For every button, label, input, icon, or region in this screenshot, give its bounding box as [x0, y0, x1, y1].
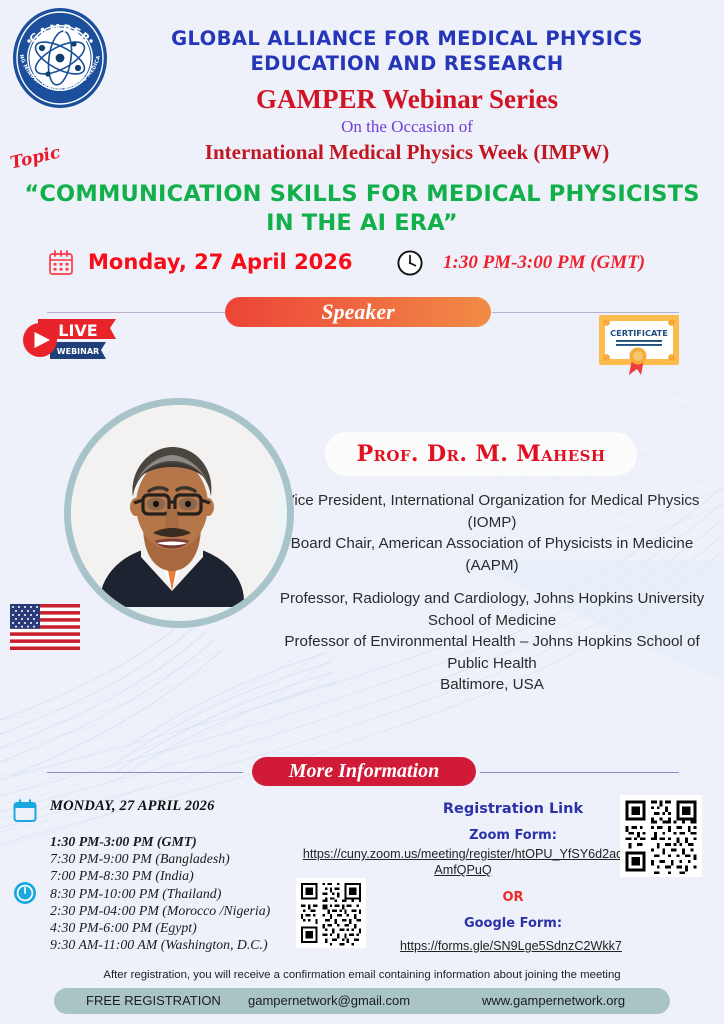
free-registration-label: FREE REGISTRATION: [86, 988, 221, 1014]
event-datetime-row: Monday, 27 April 2026 1:30 PM-3:00 PM (G…: [0, 246, 724, 282]
clock-icon: [396, 249, 424, 277]
gamper-logo: GAMPER CONNECTING MINDS, TRANSFORMING ME…: [8, 6, 112, 110]
organization-title: GLOBAL ALLIANCE FOR MEDICAL PHYSICS EDUC…: [104, 26, 710, 76]
timezone-item: 2:30 PM-04:00 PM (Morocco /Nigeria): [50, 902, 320, 919]
website-link[interactable]: www.gampernetwork.org: [482, 988, 625, 1014]
speaker-position-0: Professor, Radiology and Cardiology, Joh…: [270, 588, 714, 631]
speaker-bio: Vice President, International Organizati…: [270, 490, 714, 696]
event-date: Monday, 27 April 2026: [88, 246, 353, 279]
occasion-prefix: On the Occasion of: [104, 117, 710, 137]
zoom-form-label: Zoom Form:: [398, 828, 628, 843]
timezone-item: 7:00 PM-8:30 PM (India): [50, 867, 320, 884]
or-separator: OR: [398, 890, 628, 905]
footer-bar: FREE REGISTRATION gampernetwork@gmail.co…: [54, 988, 670, 1014]
timezone-item: 1:30 PM-3:00 PM (GMT): [50, 833, 320, 850]
timezone-list: 1:30 PM-3:00 PM (GMT) 7:30 PM-9:00 PM (B…: [50, 833, 320, 953]
speaker-name: Prof. Dr. M. Mahesh: [325, 432, 637, 476]
live-badge-secondary-text: WEBINAR: [57, 347, 99, 356]
speaker-position-1: Professor of Environmental Health – John…: [270, 631, 714, 674]
google-form-link[interactable]: https://forms.gle/SN9Lge5SdnzC2Wkk7: [380, 939, 642, 953]
event-time: 1:30 PM-3:00 PM (GMT): [443, 246, 645, 279]
timezone-item: 4:30 PM-6:00 PM (Egypt): [50, 919, 320, 936]
talk-title: “COMMUNICATION SKILLS FOR MEDICAL PHYSIC…: [18, 180, 706, 238]
more-information-label: More Information: [252, 757, 476, 786]
clock-icon: [12, 880, 38, 906]
speaker-photo: [64, 398, 294, 628]
speaker-section-label: Speaker: [225, 297, 491, 327]
speaker-divider-left: [47, 312, 232, 313]
timezone-item: 8:30 PM-10:00 PM (Thailand): [50, 885, 320, 902]
qr-code-icon[interactable]: [296, 878, 366, 948]
zoom-registration-link[interactable]: https://cuny.zoom.us/meeting/register/ht…: [300, 846, 626, 878]
calendar-icon: [47, 249, 75, 277]
more-info-divider-right: [480, 772, 679, 773]
certificate-label-text: CERTIFICATE: [610, 328, 668, 338]
more-info-divider-left: [47, 772, 243, 773]
certificate-icon: CERTIFICATE: [596, 312, 682, 378]
speaker-portrait-illustration: [71, 405, 273, 607]
timezone-item: 9:30 AM-11:00 AM (Washington, D.C.): [50, 936, 320, 953]
usa-flag-icon: [10, 604, 80, 650]
timezone-item: 7:30 PM-9:00 PM (Bangladesh): [50, 850, 320, 867]
speaker-affiliation-1: Board Chair, American Association of Phy…: [270, 533, 714, 576]
google-form-label: Google Form:: [398, 916, 628, 931]
topic-label: Topic: [8, 143, 62, 174]
speaker-position-2: Baltimore, USA: [270, 674, 714, 696]
more-info-date: MONDAY, 27 APRIL 2026: [50, 798, 215, 815]
calendar-icon: [12, 798, 38, 824]
qr-code-icon[interactable]: [620, 795, 702, 877]
contact-email[interactable]: gampernetwork@gmail.com: [248, 988, 410, 1014]
registration-note: After registration, you will receive a c…: [62, 969, 662, 981]
speaker-affiliation-0: Vice President, International Organizati…: [270, 490, 714, 533]
live-badge-primary-text: LIVE: [58, 321, 97, 340]
webinar-poster: GAMPER CONNECTING MINDS, TRANSFORMING ME…: [0, 0, 724, 1024]
live-webinar-badge: LIVE WEBINAR: [16, 316, 124, 374]
webinar-series-title: GAMPER Webinar Series: [104, 84, 710, 114]
occasion-name: International Medical Physics Week (IMPW…: [104, 140, 710, 165]
registration-title: Registration Link: [398, 801, 628, 817]
